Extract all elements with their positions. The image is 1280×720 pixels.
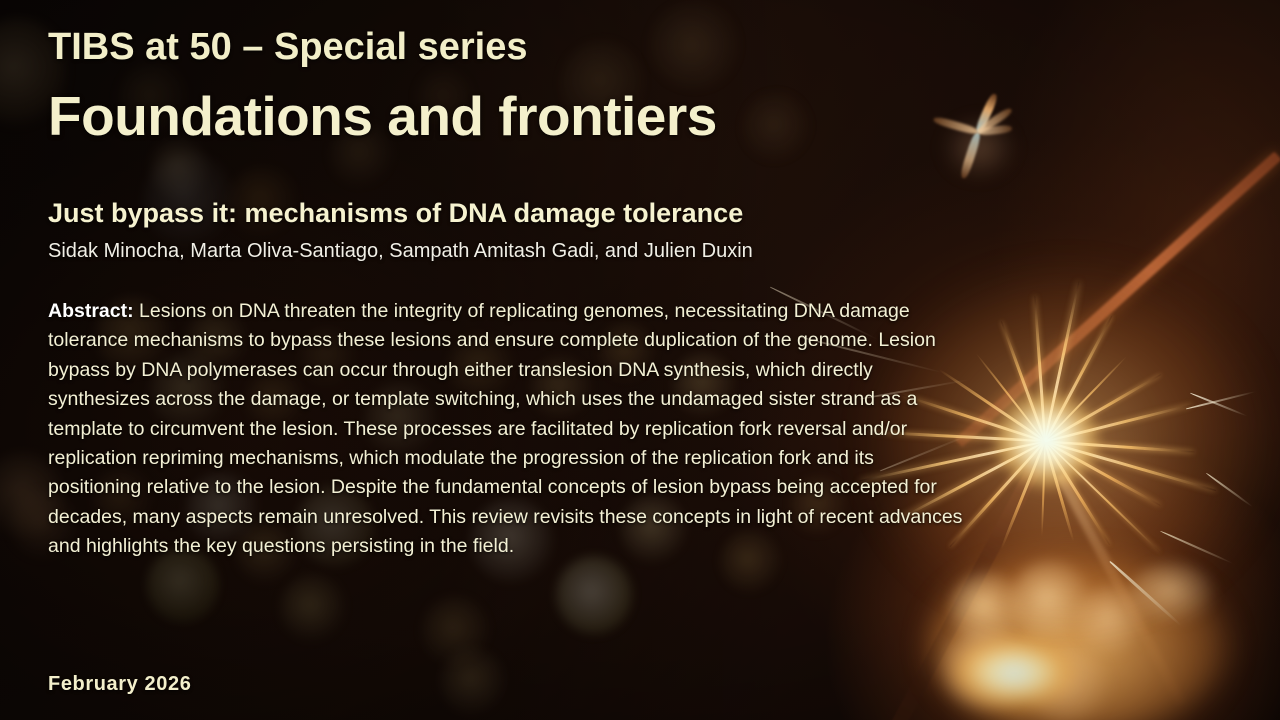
slide-content: TIBS at 50 – Special series Foundations … [0,0,1280,720]
article-title: Just bypass it: mechanisms of DNA damage… [48,198,743,229]
abstract-label: Abstract: [48,300,134,322]
abstract-text: Lesions on DNA threaten the integrity of… [48,300,962,557]
series-title: Foundations and frontiers [48,84,717,148]
series-kicker: TIBS at 50 – Special series [48,26,528,69]
article-authors: Sidak Minocha, Marta Oliva-Santiago, Sam… [48,240,753,263]
publication-date: February 2026 [48,673,191,696]
presentation-slide: TIBS at 50 – Special series Foundations … [0,0,1280,720]
abstract-block: Abstract: Lesions on DNA threaten the in… [48,297,966,562]
